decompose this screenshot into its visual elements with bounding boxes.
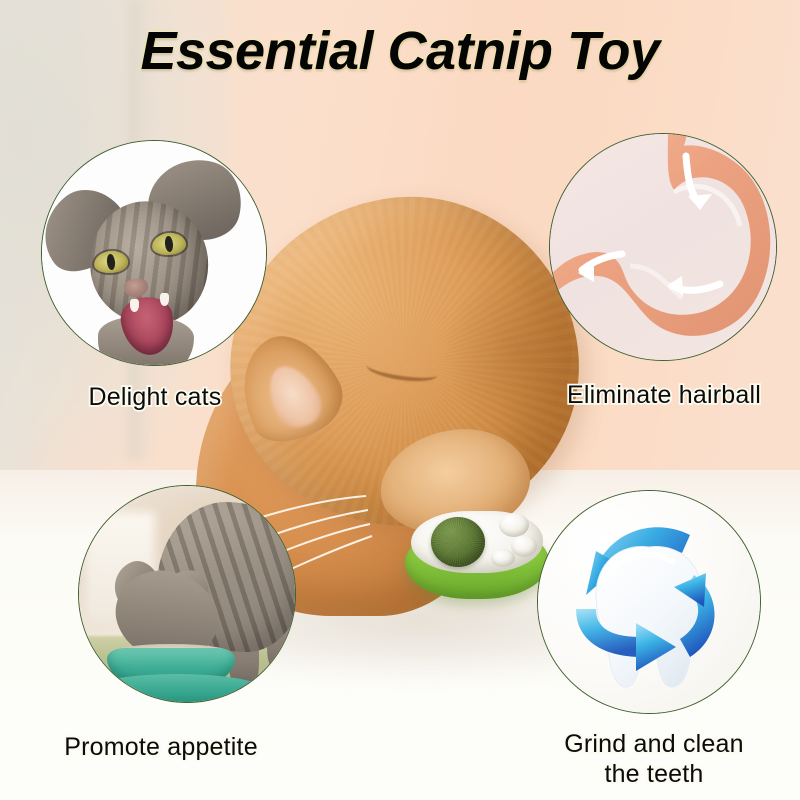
feature-image-grind-clean-teeth xyxy=(537,490,761,714)
kitten-pupil xyxy=(106,254,116,271)
kitten-pupil xyxy=(164,236,174,253)
catnip-ball xyxy=(431,517,485,567)
toy-paw-bump xyxy=(491,549,515,567)
toy-paw-bump xyxy=(511,535,537,557)
feature-image-eliminate-hairball xyxy=(549,133,777,361)
feature-image-promote-appetite xyxy=(78,485,296,703)
feature-label-promote-appetite: Promote appetite xyxy=(36,733,286,763)
feature-label-eliminate-hairball: Eliminate hairball xyxy=(540,381,788,411)
page-title: Essential Catnip Toy xyxy=(0,20,800,82)
feature-image-delight-cats xyxy=(41,140,267,366)
stomach-digestion-illustration xyxy=(550,134,776,360)
kitten-tooth xyxy=(160,293,169,306)
kitten-tooth xyxy=(130,299,139,312)
cat-eating-from-bowl-photo xyxy=(79,486,295,702)
catnip-toy xyxy=(405,505,549,601)
green-bowl-mat xyxy=(87,674,267,703)
feature-label-grind-clean-teeth: Grind and clean the teeth xyxy=(530,730,778,789)
happy-tabby-cat-photo xyxy=(42,141,266,365)
stomach-diagram xyxy=(550,134,776,360)
toy-paw-bump xyxy=(499,513,529,537)
tooth-with-arrows-illustration xyxy=(538,491,760,713)
tooth-diagram xyxy=(538,491,760,713)
product-infographic: Delight cats Eliminate hairball Promote … xyxy=(0,0,800,800)
feature-label-delight-cats: Delight cats xyxy=(30,383,280,413)
